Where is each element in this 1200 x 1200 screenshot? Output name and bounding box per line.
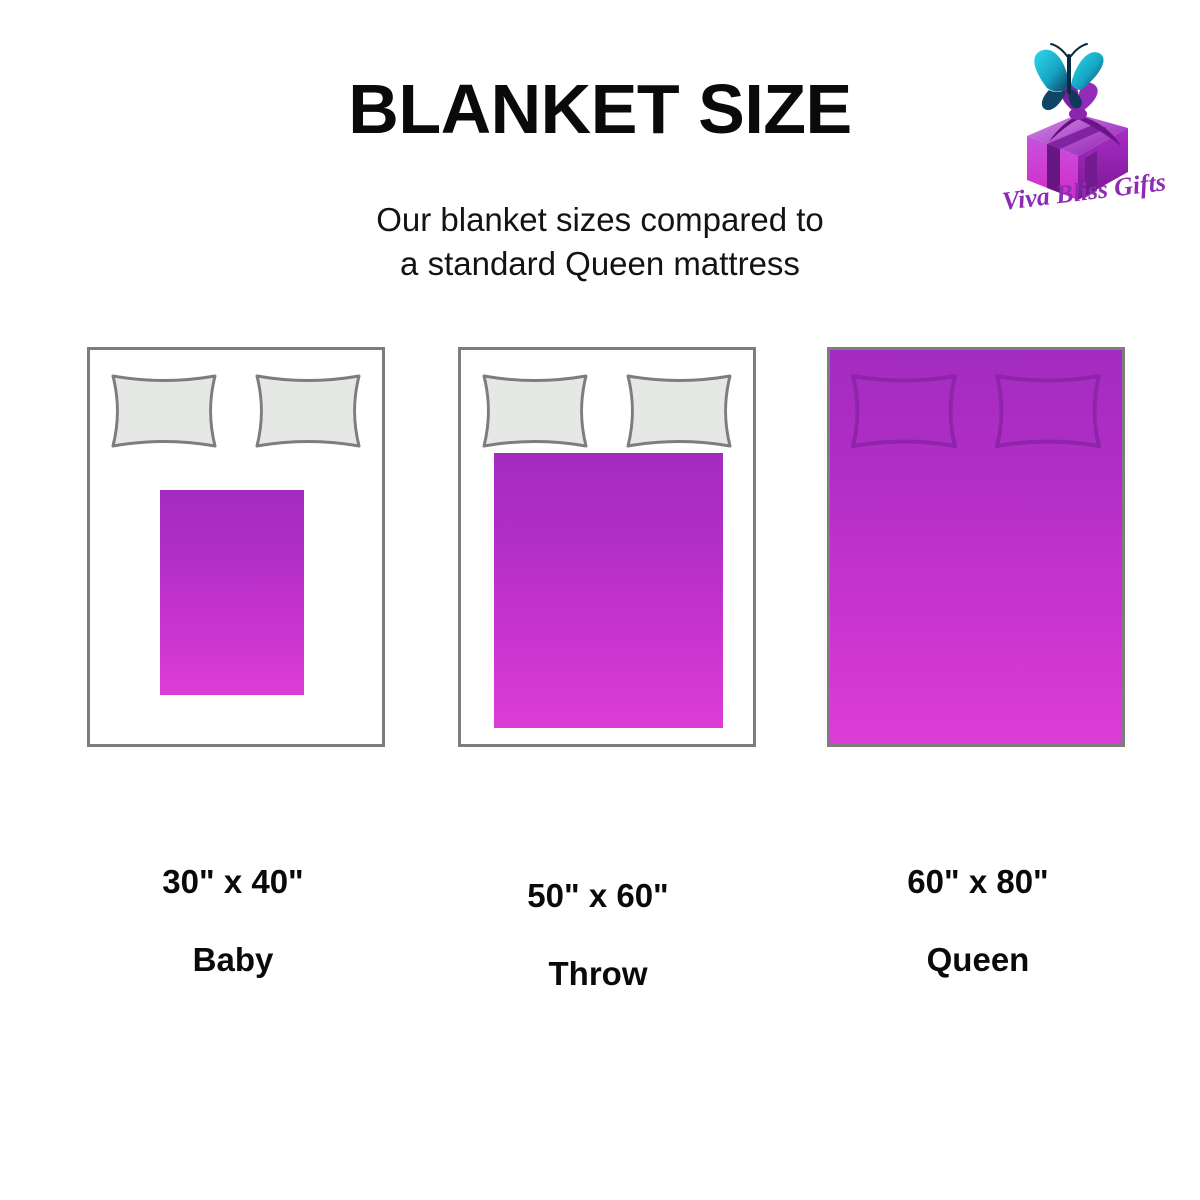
pillow-left: [109, 372, 219, 450]
brand-logo: Viva Bliss Gifts: [985, 40, 1185, 230]
bed-name-label: Throw: [418, 954, 778, 994]
page-subtitle-line-2: a standard Queen mattress: [0, 242, 1200, 286]
bed-size-label: 50" x 60": [418, 876, 778, 916]
blanket-throw: [494, 453, 723, 728]
pillow-right: [253, 372, 363, 450]
mattress-outline-queen: [827, 347, 1125, 747]
pillow-left: [849, 372, 959, 450]
bed-size-label: 60" x 80": [798, 862, 1158, 902]
bed-caption-baby: 30" x 40" Baby: [53, 862, 413, 979]
bed-card-baby: [87, 347, 385, 747]
pillow-right: [993, 372, 1103, 450]
bed-card-queen: [827, 347, 1125, 747]
bed-size-label: 30" x 40": [53, 862, 413, 902]
bed-card-throw: [458, 347, 756, 747]
bed-name-label: Baby: [53, 940, 413, 980]
bed-caption-queen: 60" x 80" Queen: [798, 862, 1158, 979]
pillow-left: [480, 372, 590, 450]
blanket-baby: [160, 490, 304, 695]
mattress-outline-throw: [458, 347, 756, 747]
bed-name-label: Queen: [798, 940, 1158, 980]
pillow-right: [624, 372, 734, 450]
bed-caption-throw: 50" x 60" Throw: [418, 876, 778, 993]
mattress-outline-baby: [87, 347, 385, 747]
